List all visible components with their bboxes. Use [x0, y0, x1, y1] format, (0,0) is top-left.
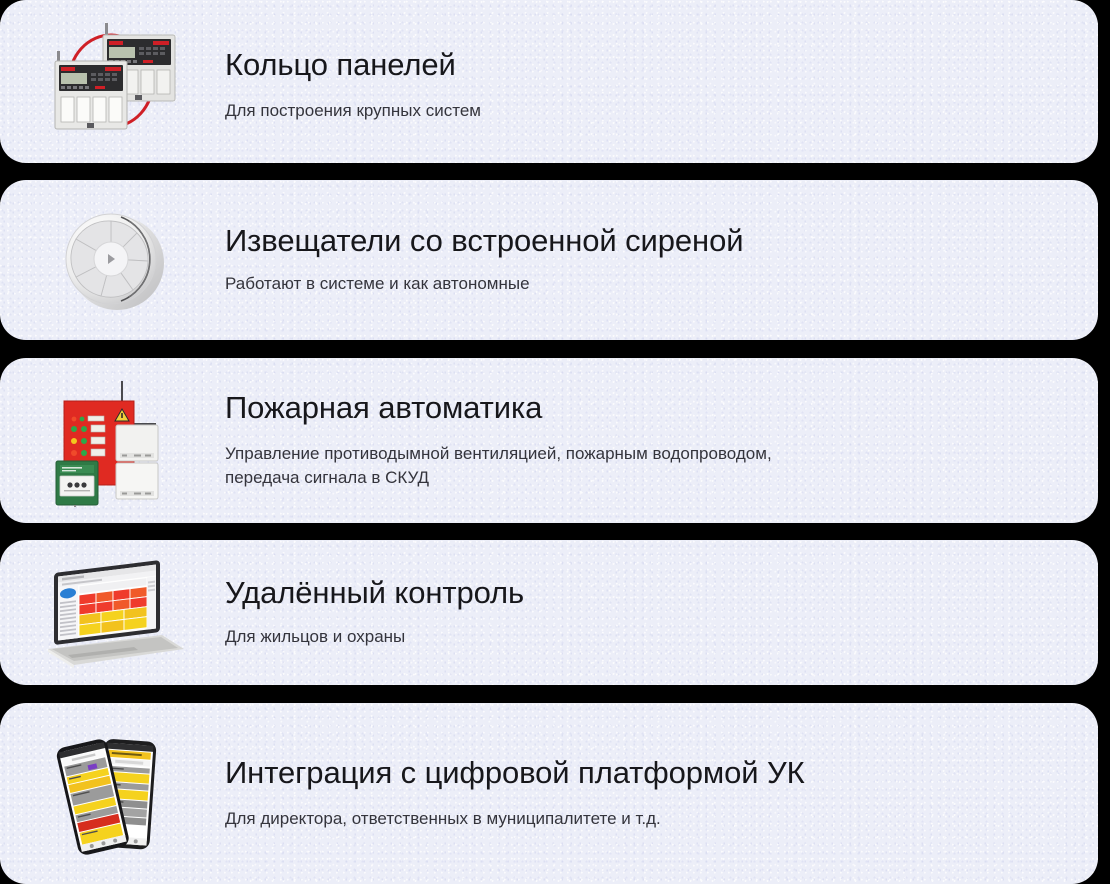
card-text-block: Пожарная автоматика Управление противоды… — [225, 358, 1078, 523]
card-text-block: Кольцо панелей Для построения крупных си… — [225, 0, 1078, 163]
card-title: Извещатели со встроенной сиреной — [225, 224, 1078, 259]
feature-card-ring-of-panels[interactable]: Кольцо панелей Для построения крупных си… — [0, 0, 1098, 163]
two-smartphones-icon — [0, 703, 225, 884]
smoke-detector-icon — [0, 180, 225, 340]
card-text-block: Интеграция с цифровой платформой УК Для … — [225, 703, 1078, 884]
card-text-block: Извещатели со встроенной сиреной Работаю… — [225, 180, 1078, 340]
card-subtitle: Для жильцов и охраны — [225, 625, 805, 649]
card-text-block: Удалённый контроль Для жильцов и охраны — [225, 540, 1078, 685]
card-title: Интеграция с цифровой платформой УК — [225, 756, 1078, 791]
fire-alarm-panels-ring-icon — [0, 0, 225, 163]
card-title: Пожарная автоматика — [225, 391, 1078, 426]
feature-card-uk-platform-integration[interactable]: Интеграция с цифровой платформой УК Для … — [0, 703, 1098, 884]
feature-card-detectors-with-siren[interactable]: Извещатели со встроенной сиреной Работаю… — [0, 180, 1098, 340]
feature-card-list: Кольцо панелей Для построения крупных си… — [0, 0, 1110, 884]
card-subtitle: Для директора, ответственных в муниципал… — [225, 807, 825, 831]
fire-automation-cabinet-icon — [0, 358, 225, 523]
card-subtitle: Для построения крупных систем — [225, 99, 805, 123]
card-subtitle: Управление противодымной вентиляцией, по… — [225, 442, 825, 490]
card-title: Удалённый контроль — [225, 576, 1078, 611]
laptop-dashboard-icon — [0, 540, 225, 685]
feature-card-fire-automation[interactable]: Пожарная автоматика Управление противоды… — [0, 358, 1098, 523]
feature-card-remote-control[interactable]: Удалённый контроль Для жильцов и охраны — [0, 540, 1098, 685]
card-subtitle: Работают в системе и как автономные — [225, 272, 805, 296]
card-title: Кольцо панелей — [225, 48, 1078, 83]
